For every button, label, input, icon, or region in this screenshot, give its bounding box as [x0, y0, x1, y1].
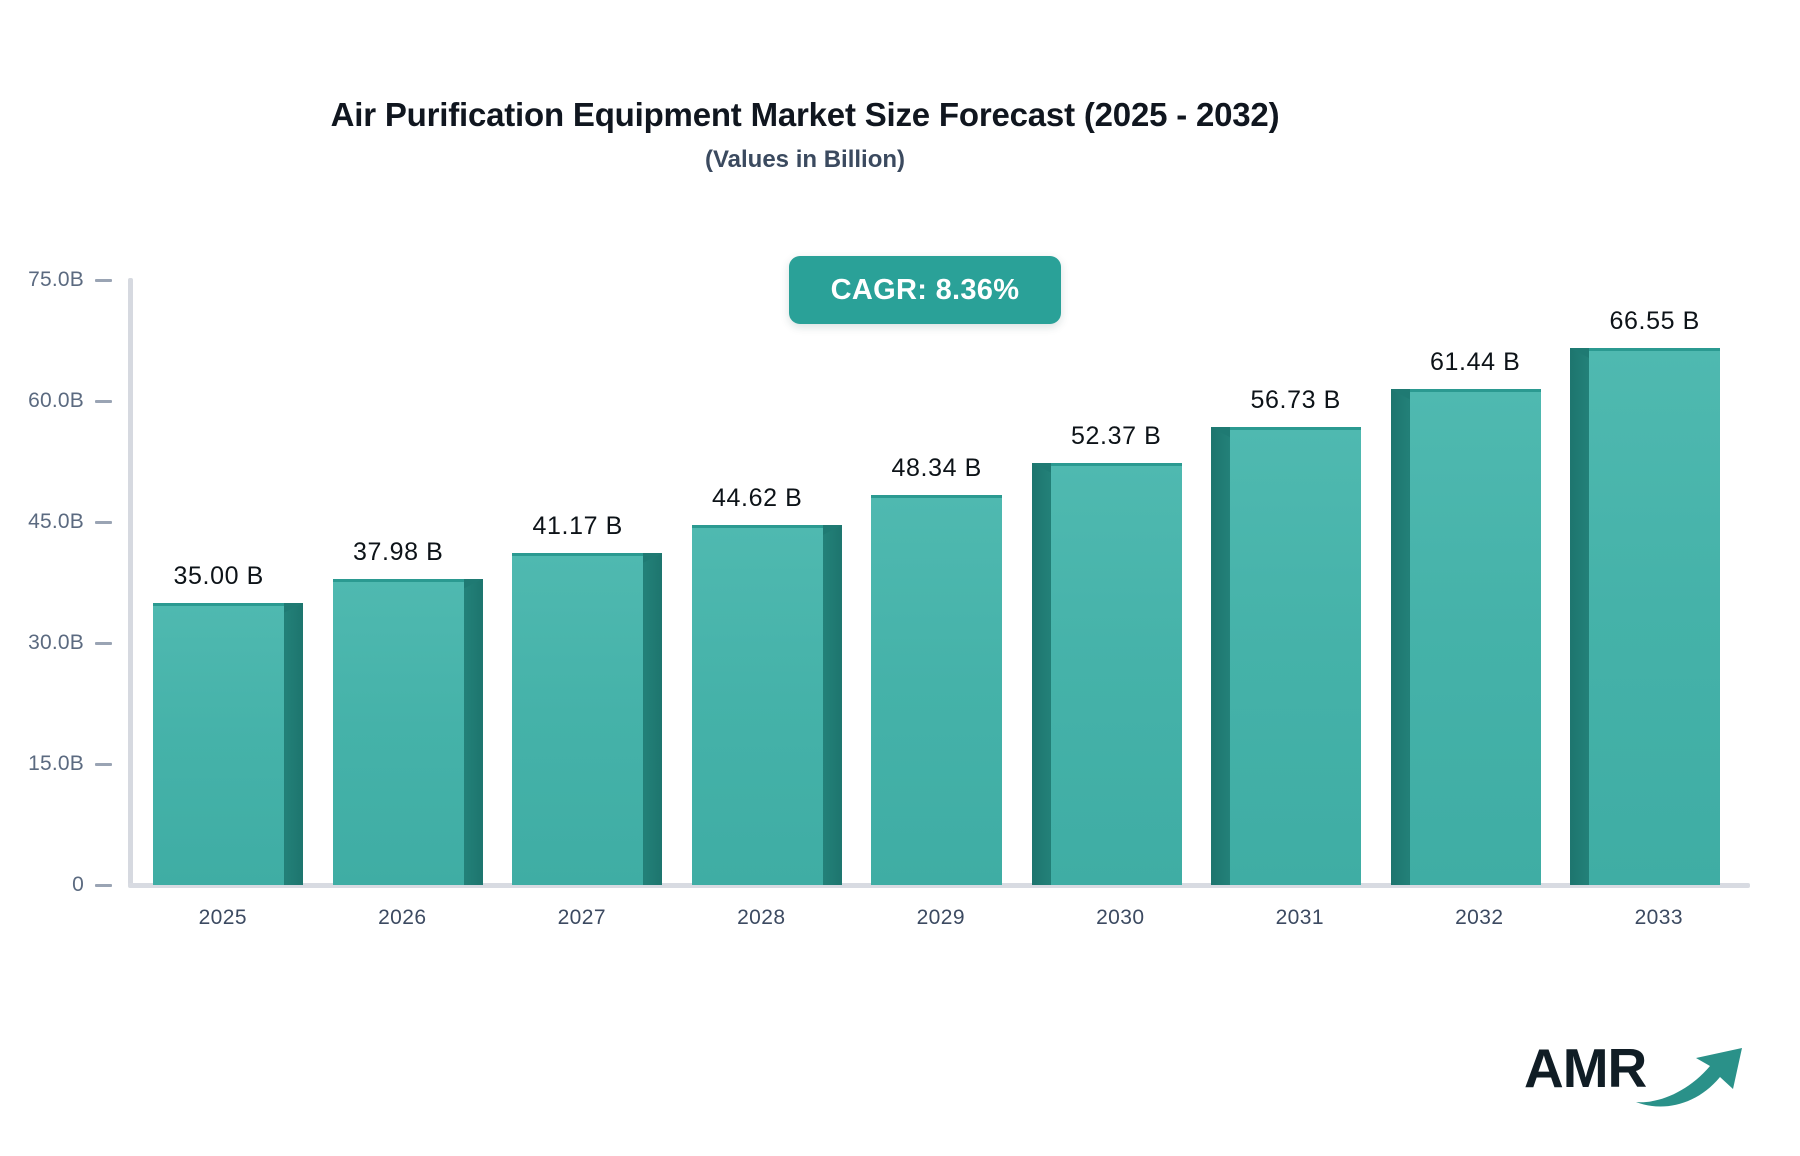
- y-axis-line: [128, 278, 133, 887]
- bar-value-label: 48.34 B: [892, 454, 982, 483]
- bar-front-face: [1589, 348, 1720, 885]
- y-axis-tick-mark: [95, 763, 112, 766]
- bar-2028[interactable]: 44.62 B: [692, 465, 823, 885]
- x-axis-label-2026: 2026: [313, 906, 493, 930]
- x-axis-label-2025: 2025: [133, 906, 313, 930]
- cagr-badge-label: CAGR: 8.36%: [831, 274, 1020, 307]
- y-axis-tick-label: 75.0B: [28, 268, 84, 292]
- bar-side-face: [1391, 389, 1410, 885]
- bar-value-label: 52.37 B: [1071, 422, 1161, 451]
- bar-value-label: 66.55 B: [1610, 307, 1700, 336]
- y-axis-tick-label: 15.0B: [28, 752, 84, 776]
- bar-2029[interactable]: 48.34 B: [871, 435, 1002, 885]
- chart-canvas: Air Purification Equipment Market Size F…: [0, 0, 1800, 1156]
- bar-side-shading: [1211, 427, 1230, 885]
- y-axis-tick: 75.0B: [0, 268, 118, 292]
- bar-side-face: [464, 579, 483, 885]
- bar-2033[interactable]: 66.55 B: [1589, 288, 1720, 885]
- x-axis-label-2031: 2031: [1210, 906, 1390, 930]
- bar-front-face: [692, 525, 823, 885]
- y-axis-tick-label: 0: [72, 873, 84, 897]
- y-axis-tick: 45.0B: [0, 510, 118, 534]
- bar-side-shading: [823, 525, 842, 885]
- y-axis-tick-mark: [95, 642, 112, 645]
- x-axis-label-2029: 2029: [851, 906, 1031, 930]
- y-axis-tick-mark: [95, 400, 112, 403]
- bar-front-face: [1230, 427, 1361, 885]
- bar-front-face: [871, 495, 1002, 885]
- bar-value-label: 41.17 B: [533, 512, 623, 541]
- bar-2030[interactable]: 52.37 B: [1051, 403, 1182, 885]
- bar-side-shading: [284, 603, 303, 885]
- bar-front-face: [333, 579, 464, 885]
- x-axis-label-2030: 2030: [1031, 906, 1211, 930]
- y-axis-tick-label: 30.0B: [28, 631, 84, 655]
- y-axis-tick: 0: [0, 873, 118, 897]
- x-axis-label-2027: 2027: [492, 906, 672, 930]
- y-axis-tick: 60.0B: [0, 389, 118, 413]
- bar-2026[interactable]: 37.98 B: [333, 519, 464, 885]
- y-axis-tick-mark: [95, 521, 112, 524]
- bar-side-face: [1032, 463, 1051, 885]
- plot-area: 75.0B60.0B45.0B30.0B15.0B0 35.00 B37.98 …: [0, 0, 1800, 1156]
- y-axis-tick-mark: [95, 884, 112, 887]
- bar-side-shading: [464, 579, 483, 885]
- bar-value-label: 56.73 B: [1251, 386, 1341, 415]
- bar-2032[interactable]: 61.44 B: [1410, 329, 1541, 885]
- amr-logo: AMR: [1524, 1038, 1774, 1112]
- bar-front-face: [1410, 389, 1541, 885]
- bar-side-face: [643, 553, 662, 885]
- y-axis-tick-label: 60.0B: [28, 389, 84, 413]
- bar-side-face: [1570, 348, 1589, 885]
- bar-front-face: [153, 603, 284, 885]
- bar-side-shading: [643, 553, 662, 885]
- bar-side-shading: [1032, 463, 1051, 885]
- y-axis-tick: 15.0B: [0, 752, 118, 776]
- bar-side-face: [1211, 427, 1230, 885]
- y-axis-tick-label: 45.0B: [28, 510, 84, 534]
- bar-value-label: 35.00 B: [174, 562, 264, 591]
- bar-side-face: [823, 525, 842, 885]
- bar-value-label: 44.62 B: [712, 484, 802, 513]
- y-axis-tick-mark: [95, 279, 112, 282]
- x-axis-label-2033: 2033: [1569, 906, 1749, 930]
- bar-front-face: [512, 553, 643, 885]
- bar-2027[interactable]: 41.17 B: [512, 493, 643, 885]
- bar-value-label: 61.44 B: [1430, 348, 1520, 377]
- growth-arrow-icon: [1632, 1044, 1752, 1110]
- bar-side-shading: [1391, 389, 1410, 885]
- bar-value-label: 37.98 B: [353, 538, 443, 567]
- bar-front-face: [1051, 463, 1182, 885]
- cagr-badge: CAGR: 8.36%: [789, 256, 1061, 324]
- y-axis-tick: 30.0B: [0, 631, 118, 655]
- bar-side-shading: [1570, 348, 1589, 885]
- bar-2031[interactable]: 56.73 B: [1230, 367, 1361, 885]
- x-axis-label-2028: 2028: [672, 906, 852, 930]
- x-axis-label-2032: 2032: [1390, 906, 1570, 930]
- bar-2025[interactable]: 35.00 B: [153, 543, 284, 885]
- bar-side-face: [284, 603, 303, 885]
- amr-wordmark: AMR: [1524, 1038, 1646, 1098]
